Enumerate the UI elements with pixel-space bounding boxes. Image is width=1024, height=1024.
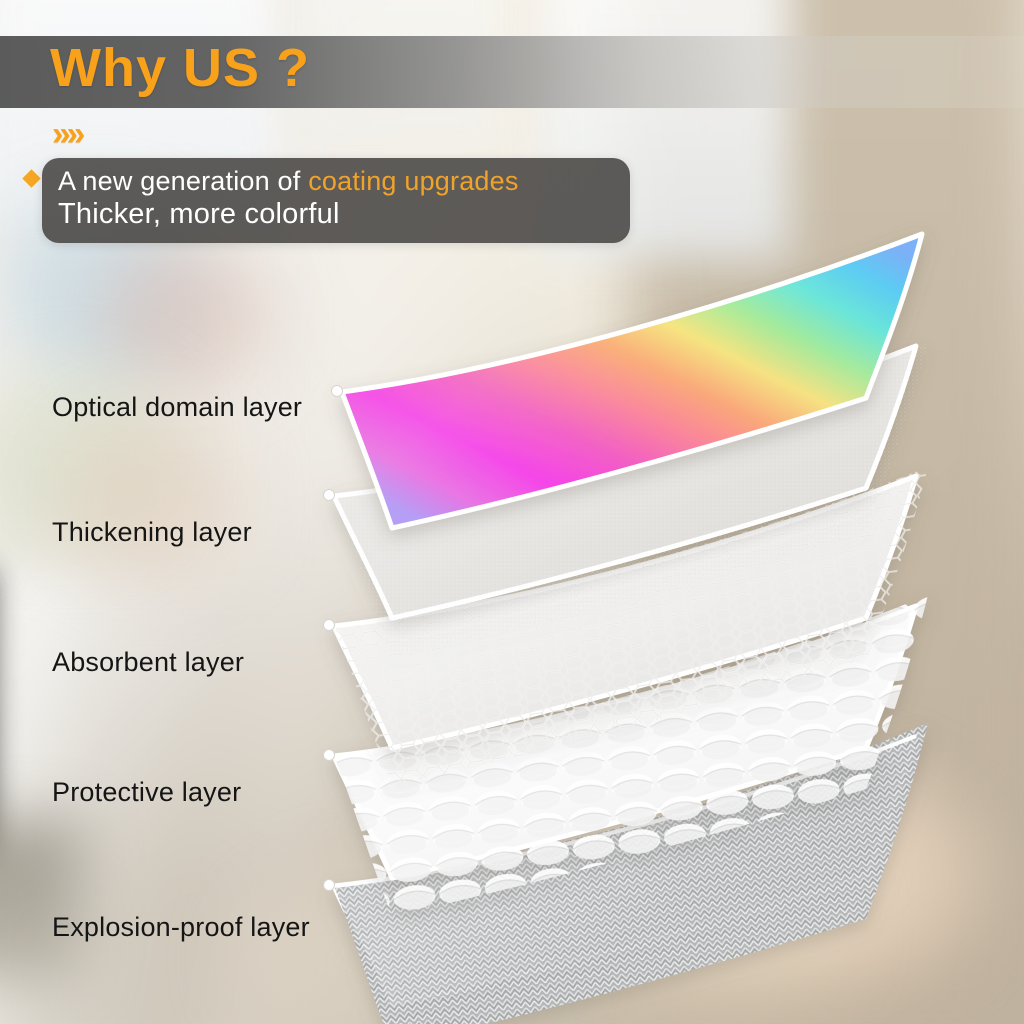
exploded-layer-stack bbox=[0, 0, 1024, 1024]
layer-label-protective: Protective layer bbox=[52, 777, 241, 808]
infographic-canvas: Why US ? ›››› A new generation of coatin… bbox=[0, 0, 1024, 1024]
layer-label-absorbent: Absorbent layer bbox=[52, 647, 244, 678]
layer-sheets-graphic bbox=[0, 0, 1024, 1024]
layer-label-thickening: Thickening layer bbox=[52, 517, 252, 548]
layer-label-optical-domain: Optical domain layer bbox=[52, 392, 302, 423]
layer-label-explosion-proof: Explosion-proof layer bbox=[52, 912, 310, 943]
